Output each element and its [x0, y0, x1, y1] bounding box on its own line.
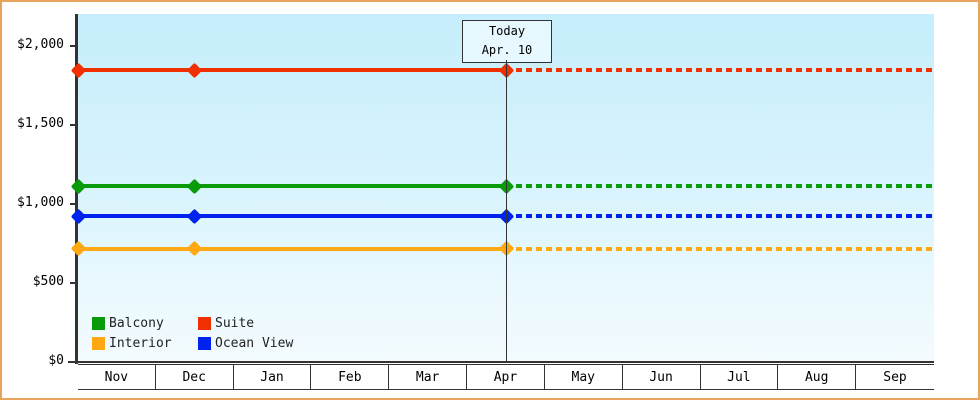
x-axis-month-nov[interactable]: Nov: [78, 365, 156, 389]
legend-item-ocean-view[interactable]: Ocean View: [198, 333, 293, 353]
x-axis-month-mar[interactable]: Mar: [389, 365, 467, 389]
y-axis-label: $500: [33, 274, 64, 289]
x-axis-month-band: NovDecJanFebMarAprMayJunJulAugSep: [78, 364, 934, 390]
legend-item-balcony[interactable]: Balcony: [92, 313, 190, 333]
x-axis-month-aug[interactable]: Aug: [778, 365, 856, 389]
legend-item-label: Suite: [215, 316, 254, 331]
series-line-ocean-view: [78, 214, 506, 218]
y-axis-label: $2,000: [17, 37, 64, 52]
x-axis-month-jun[interactable]: Jun: [623, 365, 701, 389]
legend-swatch-icon: [198, 317, 211, 330]
legend-item-label: Interior: [109, 336, 172, 351]
today-vertical-line: [506, 60, 507, 362]
price-history-chart: $0$500$1,000$1,500$2,000 TodayApr. 10 Ba…: [0, 0, 980, 400]
y-axis-tick: [70, 361, 78, 363]
today-label-box: TodayApr. 10: [462, 20, 552, 63]
x-axis-month-jul[interactable]: Jul: [701, 365, 779, 389]
x-axis-month-dec[interactable]: Dec: [156, 365, 234, 389]
y-axis-tick: [70, 45, 78, 47]
legend-item-suite[interactable]: Suite: [198, 313, 293, 333]
y-axis-tick: [70, 124, 78, 126]
x-axis-month-may[interactable]: May: [545, 365, 623, 389]
legend-item-label: Ocean View: [215, 336, 293, 351]
series-forecast-suite: [506, 68, 934, 72]
series-line-balcony: [78, 184, 506, 188]
series-line-interior: [78, 247, 506, 251]
today-label-line2: Apr. 10: [469, 41, 545, 60]
today-label-line1: Today: [469, 22, 545, 41]
series-line-suite: [78, 68, 506, 72]
legend-item-interior[interactable]: Interior: [92, 333, 190, 353]
x-axis-month-jan[interactable]: Jan: [234, 365, 312, 389]
series-forecast-ocean-view: [506, 214, 934, 218]
y-axis-label: $1,000: [17, 195, 64, 210]
legend-swatch-icon: [198, 337, 211, 350]
x-axis-month-sep[interactable]: Sep: [856, 365, 934, 389]
y-axis-tick: [70, 282, 78, 284]
y-axis-label: $1,500: [17, 116, 64, 131]
x-axis-line: [68, 361, 934, 363]
legend-swatch-icon: [92, 337, 105, 350]
series-forecast-interior: [506, 247, 934, 251]
legend-swatch-icon: [92, 317, 105, 330]
y-axis-label: $0: [48, 353, 64, 368]
x-axis-month-feb[interactable]: Feb: [311, 365, 389, 389]
y-axis-tick: [70, 203, 78, 205]
legend: BalconySuiteInteriorOcean View: [92, 313, 293, 353]
x-axis-month-apr[interactable]: Apr: [467, 365, 545, 389]
series-forecast-balcony: [506, 184, 934, 188]
legend-item-label: Balcony: [109, 316, 164, 331]
